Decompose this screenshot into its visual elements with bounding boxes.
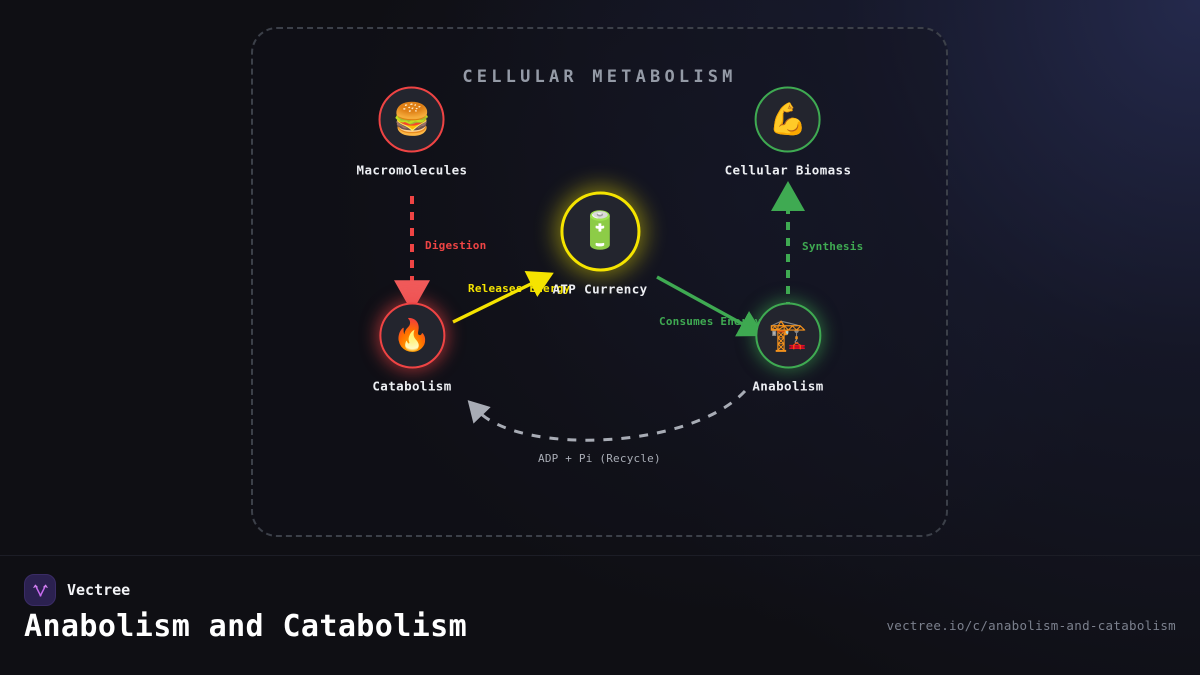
node-label-anabolism: Anabolism [752,379,823,394]
page-title: Anabolism and Catabolism [24,609,467,644]
hamburger-icon: 🍔 [379,87,445,153]
node-catabolism[interactable]: 🔥 Catabolism [372,303,451,394]
node-anabolism[interactable]: 🏗️ Anabolism [752,303,823,394]
diagram-title: CELLULAR METABOLISM [253,67,946,87]
brand: Vectree [24,574,130,606]
footer-url: vectree.io/c/anabolism-and-catabolism [886,618,1176,633]
edge-label-digestion: Digestion [425,239,486,252]
footer: Vectree Anabolism and Catabolism vectree… [0,555,1200,675]
node-cellular-biomass[interactable]: 💪 Cellular Biomass [725,87,852,178]
edge-label-adp-recycle: ADP + Pi (Recycle) [538,452,661,465]
battery-icon: 🔋 [560,192,640,272]
node-macromolecules[interactable]: 🍔 Macromolecules [357,87,468,178]
edge-label-synthesis: Synthesis [802,240,863,253]
edge-label-consumes-energy: Consumes Energy [659,315,761,328]
fire-icon: 🔥 [379,303,445,369]
node-atp-currency[interactable]: 🔋 ATP Currency [552,192,647,297]
vectree-logo-icon [24,574,56,606]
node-label-macromolecules: Macromolecules [357,163,468,178]
brand-name: Vectree [67,581,130,599]
node-label-atp-currency: ATP Currency [552,282,647,297]
flexed-biceps-icon: 💪 [755,87,821,153]
node-label-cellular-biomass: Cellular Biomass [725,163,852,178]
node-label-catabolism: Catabolism [372,379,451,394]
construction-crane-icon: 🏗️ [755,303,821,369]
vectree-logo-glyph [32,582,49,599]
